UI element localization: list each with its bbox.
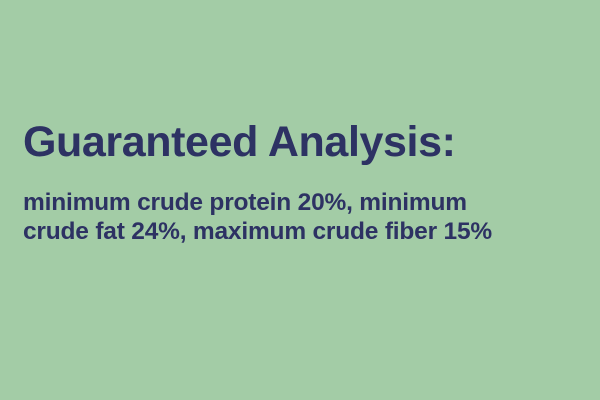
guaranteed-analysis-graphic: Guaranteed Analysis: minimum crude prote…: [0, 0, 600, 400]
text-block: Guaranteed Analysis: minimum crude prote…: [23, 118, 590, 246]
analysis-line-1: minimum crude protein 20%, minimum: [23, 188, 590, 217]
page-title: Guaranteed Analysis:: [23, 118, 590, 166]
analysis-line-2: crude fat 24%, maximum crude fiber 15%: [23, 217, 590, 246]
analysis-body: minimum crude protein 20%, minimum crude…: [23, 166, 590, 246]
